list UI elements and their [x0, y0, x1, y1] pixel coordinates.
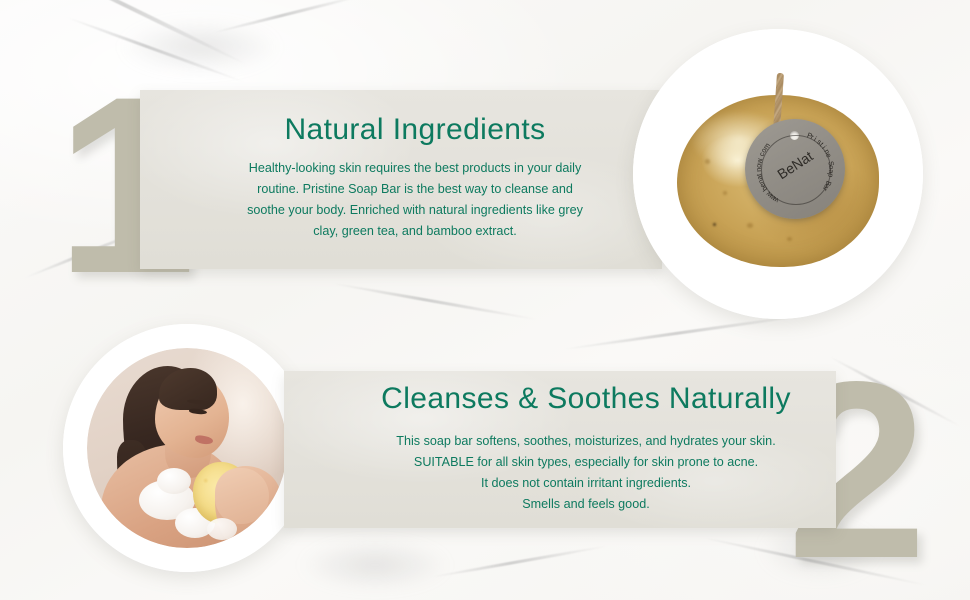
feature-heading-2: Cleanses & Soothes Naturally — [326, 373, 846, 419]
body-line: Healthy-looking skin requires the best p… — [204, 158, 626, 179]
feature-body-2: This soap bar softens, soothes, moisturi… — [326, 419, 846, 515]
lifestyle-photo-woman — [63, 324, 311, 572]
feature-banner-1: Natural Ingredients Healthy-looking skin… — [140, 90, 662, 269]
feature-heading-1: Natural Ingredients — [200, 98, 630, 150]
infographic-canvas: 1 Natural Ingredients Healthy-looking sk… — [0, 0, 970, 600]
lifestyle-photo-inner — [87, 348, 287, 548]
body-line: Smells and feels good. — [326, 494, 846, 515]
feature-content-1: Natural Ingredients Healthy-looking skin… — [200, 98, 630, 242]
product-photo-soap: BeNat Pristine Soap Bar www.benatnow.com — [633, 29, 923, 319]
feature-body-1: Healthy-looking skin requires the best p… — [200, 150, 630, 242]
product-hang-tag: BeNat Pristine Soap Bar www.benatnow.com — [745, 119, 845, 219]
feature-content-2: Cleanses & Soothes Naturally This soap b… — [326, 373, 846, 515]
body-line: It does not contain irritant ingredients… — [326, 473, 846, 494]
product-photo-inner: BeNat Pristine Soap Bar www.benatnow.com — [671, 67, 885, 281]
body-line: SUITABLE for all skin types, especially … — [326, 452, 846, 473]
shoulder-foam — [157, 468, 191, 494]
woman-hand — [215, 468, 269, 524]
body-line: This soap bar softens, soothes, moisturi… — [326, 431, 846, 452]
hand-foam — [207, 518, 237, 540]
body-line: soothe your body. Enriched with natural … — [204, 200, 626, 221]
body-line: clay, green tea, and bamboo extract. — [204, 221, 626, 242]
body-line: routine. Pristine Soap Bar is the best w… — [204, 179, 626, 200]
feature-banner-2: Cleanses & Soothes Naturally This soap b… — [284, 371, 836, 528]
